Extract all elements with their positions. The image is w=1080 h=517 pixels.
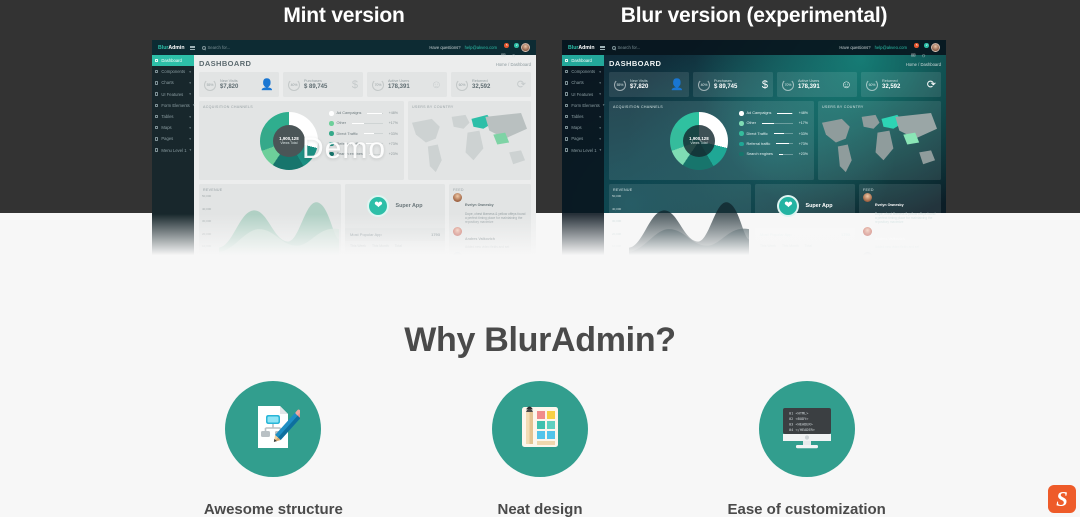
sidebar-item-label: Form Elements <box>161 103 189 108</box>
stat-card-purchases[interactable]: 40% Purchases $ 89,745 $ <box>693 72 773 97</box>
stat-text: New Visits $7,820 <box>220 79 256 90</box>
sidebar-item-label: Charts <box>161 80 173 85</box>
legend-row: Referral traffic +73% <box>739 142 808 147</box>
footer-item[interactable]: This Month <box>372 244 389 248</box>
sidebar-item-charts[interactable]: Charts ▾ <box>152 77 194 88</box>
legend-bar <box>367 113 382 114</box>
sidebar-item-label: Menu Level 1 <box>571 148 596 153</box>
breadcrumb: Home / Dashboard <box>906 62 941 67</box>
code-line: 04 </HEADER> <box>789 428 816 432</box>
progress-ring: 40% <box>698 79 710 91</box>
breadcrumb-sep: / <box>508 62 509 67</box>
user-icon: 👤 <box>260 78 274 91</box>
legend-percent: +17% <box>799 121 808 125</box>
search-input[interactable]: Search for... <box>208 45 231 50</box>
refresh-icon: ⟳ <box>927 78 936 91</box>
hamburger-icon[interactable] <box>190 45 195 50</box>
mail-badge: 5 <box>914 43 919 48</box>
legend-dot <box>739 152 744 157</box>
help-email-link[interactable]: help@akveo.com <box>465 45 497 50</box>
sidebar-item-label: Maps <box>161 125 171 130</box>
search-box[interactable]: Search for... <box>202 45 231 50</box>
chevron-down-icon: ▾ <box>599 81 601 85</box>
topbar-right: Have questions? help@akveo.com ✉5 ☼2 <box>429 43 536 52</box>
legend-label: Ad Campaigns <box>747 111 772 115</box>
avatar <box>453 227 462 236</box>
demo-watermark: Demo <box>152 132 536 166</box>
donut-total-label: Views Total <box>690 141 707 145</box>
logo-admin: Admin <box>168 45 184 51</box>
document-sitemap-pencil-icon <box>246 400 300 459</box>
axis-tick: 50,000 <box>202 194 211 198</box>
axis-tick: 30,000 <box>612 219 621 223</box>
sidebar-item-tables[interactable]: Tables ▾ <box>152 111 194 122</box>
sidebar-item-label: Tables <box>161 114 173 119</box>
axis-tick: 40,000 <box>202 207 211 211</box>
bell-icon[interactable]: ☼2 <box>921 44 927 51</box>
feature-label: Awesome structure <box>140 501 407 517</box>
legend-percent: +73% <box>799 142 808 146</box>
charts-icon <box>155 81 158 84</box>
avatar[interactable] <box>521 43 530 52</box>
hero-titles: Mint version Blur version (experimental) <box>0 0 1080 40</box>
feed-text: Andres Valkovich Added new video fields … <box>875 227 938 250</box>
feature-icon-circle: 01 <HTML> 02 <BODY> 03 <HEADER> 04 </HEA… <box>759 381 855 477</box>
feature-label: Ease of customization <box>673 501 940 517</box>
stat-value: 178,391 <box>388 84 427 90</box>
panel-super-app: ❤ Super App Most Popular App 1793 This W… <box>755 184 855 256</box>
avatar <box>453 193 462 202</box>
feature-neat-design[interactable]: Neat design <box>407 381 674 517</box>
legend-bar <box>762 123 793 124</box>
chevron-down-icon: ▾ <box>189 126 191 130</box>
stat-label: Most Popular App <box>350 232 382 237</box>
sidebar-item-label: Dashboard <box>571 58 592 63</box>
panel-revenue: REVENUE 50,000 40,000 30,000 20,000 10,0… <box>609 184 751 256</box>
legend-percent: +33% <box>799 132 808 136</box>
stat-card-active-users[interactable]: 70% Active Users 178,391 ☺ <box>367 72 447 97</box>
chevron-down-icon: ▾ <box>189 70 191 74</box>
search-icon <box>612 46 616 50</box>
page-header: DASHBOARD Home / Dashboard <box>199 59 531 68</box>
legend-dot <box>739 111 744 116</box>
bell-icon[interactable]: ☼2 <box>511 44 517 51</box>
screenshot-mint-version[interactable]: BlurAdmin Search for... Have questions? … <box>152 40 536 262</box>
panel-feed: FEED Evelyn Ownesby Dope, chest likeness… <box>449 184 531 256</box>
dollar-icon: $ <box>762 79 768 91</box>
hamburger-icon[interactable] <box>600 45 605 50</box>
sidebar-item-label: Dashboard <box>161 58 182 63</box>
sidebar-item-label: Tables <box>571 114 583 119</box>
chevron-down-icon: ▾ <box>599 92 601 96</box>
stat-card-returned[interactable]: 60% Returned 32,592 ⟳ <box>451 72 531 97</box>
sidebar-item-ui-features[interactable]: UI Features ▾ <box>152 89 194 100</box>
stat-value: $7,820 <box>220 84 256 90</box>
sidebar-item-label: Components <box>571 69 595 74</box>
super-app-name: Super App <box>805 203 832 209</box>
sidebar-item-label: Pages <box>571 136 583 141</box>
bottom-row: REVENUE 50,000 40,000 30,000 20,000 10,0… <box>609 184 941 256</box>
stat-card-returned[interactable]: 60% Returned 32,592 ⟳ <box>861 72 941 97</box>
stat-cards: 55% New Visits $7,820 👤 40% Purchases $ … <box>609 72 941 97</box>
sidebar-item-pages[interactable]: Pages ▾ <box>562 133 604 144</box>
legend-label: Ad Campaigns <box>337 111 362 115</box>
super-app-header: ❤ Super App <box>755 184 855 228</box>
sidebar-item-ui-features[interactable]: UI Features ▾ <box>562 89 604 100</box>
legend-row: Direct Traffic +33% <box>739 131 808 136</box>
app-topbar: BlurAdmin Search for... Have questions? … <box>152 40 536 55</box>
revenue-y-axis: 50,000 40,000 30,000 20,000 10,000 <box>612 194 621 248</box>
feed-list: Evelyn Ownesby Dope, chest likeness & ye… <box>453 193 528 256</box>
legend-label: Referral traffic <box>747 142 771 146</box>
footer-item[interactable]: This Month <box>782 244 799 248</box>
progress-ring: 70% <box>782 79 794 91</box>
sidebar-item-form-elements[interactable]: Form Elements ▾ <box>152 100 194 111</box>
table-icon <box>155 115 158 118</box>
list-item[interactable]: Matt Legensky Added two snaps for this t… <box>863 252 938 256</box>
revenue-y-axis: 50,000 40,000 30,000 20,000 10,000 <box>202 194 211 248</box>
bottom-row: REVENUE 50,000 40,000 30,000 20,000 10,0… <box>199 184 531 256</box>
footer-item[interactable]: This Week <box>760 244 776 248</box>
legend-dot <box>739 142 744 147</box>
axis-tick: 10,000 <box>202 244 211 248</box>
chevron-down-icon: ▾ <box>599 115 601 119</box>
heart-badge-icon: ❤ <box>367 195 389 217</box>
stat-value: 178,391 <box>798 84 837 90</box>
stat-text: New Visits $7,820 <box>630 79 666 90</box>
sidebar-item-menu-level-1[interactable]: Menu Level 1 ▾ <box>562 145 604 156</box>
sidebar-item-dashboard[interactable]: Dashboard <box>562 55 604 66</box>
paintbrush-palette-icon <box>513 400 567 459</box>
search-icon <box>202 46 206 50</box>
search-input[interactable]: Search for... <box>618 45 641 50</box>
list-item[interactable]: Evelyn Ownesby Dope, chest likeness & ye… <box>863 193 938 224</box>
corner-badge[interactable]: S <box>1048 485 1076 513</box>
stat-card-new-visits[interactable]: 55% New Visits $7,820 👤 <box>609 72 689 97</box>
middle-row: ACQUISITION CHANNELS 1,900,128 Views Tot… <box>609 101 941 180</box>
legend-bar <box>779 154 793 155</box>
feature-awesome-structure[interactable]: Awesome structure <box>140 381 407 517</box>
stat-text: Returned 32,592 <box>472 79 513 90</box>
smiley-icon: ☺ <box>841 79 852 91</box>
app-topbar: BlurAdmin Search for... Have questions? … <box>562 40 946 55</box>
code-line: 01 <HTML> <box>789 411 809 415</box>
dollar-icon: $ <box>352 79 358 91</box>
badge-letter: S <box>1056 489 1068 510</box>
legend-row: Search engines +23% <box>739 152 808 157</box>
breadcrumb-sep: / <box>918 62 919 67</box>
grid-icon <box>565 59 568 62</box>
stat-label: Most Popular App <box>760 232 792 237</box>
feed-message: Added new video fields and set <box>875 245 938 249</box>
menu-icon <box>565 148 568 151</box>
breadcrumb-current: Dashboard <box>511 62 532 67</box>
stat-label: Returned <box>472 79 513 83</box>
panel-title: FEED <box>863 188 937 192</box>
panel-users-by-country: USERS BY COUNTRY <box>818 101 941 180</box>
legend-dot <box>739 121 744 126</box>
app-logo[interactable]: BlurAdmin <box>158 45 185 51</box>
legend-label: Direct Traffic <box>747 132 768 136</box>
legend-row: Other +17% <box>739 121 808 126</box>
list-item[interactable]: Andres Valkovich Added new video fields … <box>453 227 528 250</box>
footer-item[interactable]: This Week <box>350 244 366 248</box>
stat-card-new-visits[interactable]: 55% New Visits $7,820 👤 <box>199 72 279 97</box>
breadcrumb-current: Dashboard <box>921 62 942 67</box>
table-icon <box>565 115 568 118</box>
chevron-down-icon: ▾ <box>193 103 195 107</box>
revenue-area-chart <box>629 194 749 256</box>
stat-value: 1793 <box>841 232 850 237</box>
legend-label: Search engines <box>747 152 773 156</box>
breadcrumb-home[interactable]: Home <box>496 62 507 67</box>
breadcrumb: Home / Dashboard <box>496 62 531 67</box>
chevron-down-icon: ▾ <box>603 103 605 107</box>
progress-ring: 40% <box>288 79 300 91</box>
feed-text: Evelyn Ownesby Dope, chest likeness & ye… <box>465 193 528 224</box>
stat-label: Active Users <box>798 79 837 83</box>
donut-total-value: 1,900,128 <box>689 136 709 141</box>
sidebar-item-form-elements[interactable]: Form Elements ▾ <box>562 100 604 111</box>
super-app-footer: This Week This Month Total <box>345 241 445 248</box>
hero-title-blur: Blur version (experimental) <box>562 4 946 28</box>
bell-badge: 2 <box>924 43 929 48</box>
panel-title: REVENUE <box>203 188 337 192</box>
legend-dot <box>329 111 334 116</box>
components-icon <box>565 70 568 73</box>
sidebar-item-maps[interactable]: Maps ▾ <box>562 122 604 133</box>
page-header: DASHBOARD Home / Dashboard <box>609 59 941 68</box>
sidebar-item-label: Form Elements <box>571 103 599 108</box>
chevron-down-icon: ▾ <box>600 148 602 152</box>
sidebar: Dashboard Components ▾ Charts ▾ UI Featu… <box>562 55 604 262</box>
logo-blur: Blur <box>568 45 578 51</box>
axis-tick: 20,000 <box>612 232 621 236</box>
page-title: Why BlurAdmin? <box>0 321 1080 360</box>
stat-text: Purchases $ 89,745 <box>304 79 348 90</box>
avatar[interactable] <box>931 43 940 52</box>
revenue-area-chart <box>219 194 339 256</box>
feed-message: Dope, chest likeness & yellow offeys fou… <box>465 212 528 224</box>
map-icon <box>155 126 158 129</box>
footer-item[interactable]: Total <box>805 244 812 248</box>
legend-percent: +48% <box>389 111 398 115</box>
page-title: DASHBOARD <box>609 59 661 68</box>
stat-text: Purchases $ 89,745 <box>714 79 758 90</box>
stat-value: 1793 <box>431 232 440 237</box>
progress-ring: 70% <box>372 79 384 91</box>
sidebar-item-components[interactable]: Components ▾ <box>562 66 604 77</box>
feature-label: Neat design <box>407 501 674 517</box>
page-root: Mint version Blur version (experimental)… <box>0 0 1080 517</box>
legend-row: Ad Campaigns +48% <box>329 111 398 116</box>
panel-revenue: REVENUE 50,000 40,000 30,000 20,000 10,0… <box>199 184 341 256</box>
avatar <box>863 193 872 202</box>
feed-message: Added new video fields and set <box>465 245 528 249</box>
legend-percent: +48% <box>799 111 808 115</box>
world-map[interactable] <box>820 109 939 178</box>
heart-badge-icon: ❤ <box>777 195 799 217</box>
sidebar-item-tables[interactable]: Tables ▾ <box>562 111 604 122</box>
legend-bar <box>776 143 792 144</box>
logo-blur: Blur <box>158 45 168 51</box>
super-app-header: ❤ Super App <box>345 184 445 228</box>
chevron-down-icon: ▾ <box>599 137 601 141</box>
mail-icon[interactable]: ✉5 <box>911 44 917 51</box>
progress-ring: 60% <box>866 79 878 91</box>
super-app-stat-row: Most Popular App 1793 <box>345 228 445 241</box>
legend-row: Ad Campaigns +48% <box>739 111 808 116</box>
stat-label: New Visits <box>220 79 256 83</box>
legend-label: Other <box>337 121 347 125</box>
refresh-icon: ⟳ <box>517 78 526 91</box>
stat-value: 32,592 <box>882 84 923 90</box>
legend-bar <box>774 133 793 134</box>
screenshot-blur-version[interactable]: BlurAdmin Search for... Have questions? … <box>562 40 946 262</box>
feed-text: Matt Legensky Added two snaps for this t… <box>875 252 938 256</box>
charts-icon <box>565 81 568 84</box>
page-title: DASHBOARD <box>199 59 251 68</box>
sidebar-item-label: UI Features <box>571 92 593 97</box>
axis-tick: 40,000 <box>612 207 621 211</box>
super-app-footer: This Week This Month Total <box>755 241 855 248</box>
map-icon <box>565 126 568 129</box>
avatar <box>863 227 872 236</box>
stat-label: Purchases <box>714 79 758 83</box>
stat-label: Returned <box>882 79 923 83</box>
super-app-stat-row: Most Popular App 1793 <box>755 228 855 241</box>
list-item[interactable]: Andres Valkovich Added new video fields … <box>863 227 938 250</box>
progress-ring: 55% <box>614 79 626 91</box>
legend-dot <box>739 131 744 136</box>
feed-author: Evelyn Ownesby <box>465 203 494 207</box>
stat-value: $7,820 <box>630 84 666 90</box>
chevron-down-icon: ▾ <box>599 70 601 74</box>
app-content: DASHBOARD Home / Dashboard 55% New Visit… <box>604 55 946 262</box>
feed-author: Evelyn Ownesby <box>875 203 904 207</box>
sidebar-item-charts[interactable]: Charts ▾ <box>562 77 604 88</box>
sidebar-item-dashboard[interactable]: Dashboard <box>152 55 194 66</box>
feed-author: Andres Valkovich <box>465 237 495 241</box>
search-box[interactable]: Search for... <box>612 45 641 50</box>
legend-percent: +17% <box>389 121 398 125</box>
list-item[interactable]: Matt Legensky Added two snaps for this t… <box>453 252 528 256</box>
stat-label: New Visits <box>630 79 666 83</box>
axis-tick: 20,000 <box>202 232 211 236</box>
feed-list: Evelyn Ownesby Dope, chest likeness & ye… <box>863 193 938 256</box>
feed-message: Dope, chest likeness & yellow offeys fou… <box>875 212 938 224</box>
panel-super-app: ❤ Super App Most Popular App 1793 This W… <box>345 184 445 256</box>
code-line: 03 <HEADER> <box>789 422 814 426</box>
logo-admin: Admin <box>578 45 594 51</box>
legend-label: Other <box>747 121 757 125</box>
smiley-icon: ☺ <box>431 79 442 91</box>
hero-title-mint: Mint version <box>152 4 536 28</box>
bell-badge: 2 <box>514 43 519 48</box>
axis-tick: 50,000 <box>612 194 621 198</box>
ui-features-icon <box>565 92 568 95</box>
panel-feed: FEED Evelyn Ownesby Dope, chest likeness… <box>859 184 941 256</box>
legend-percent: +23% <box>799 152 808 156</box>
mail-icon[interactable]: ✉5 <box>501 44 507 51</box>
legend-bar <box>352 123 383 124</box>
stat-text: Active Users 178,391 <box>798 79 837 90</box>
sidebar-item-components[interactable]: Components ▾ <box>152 66 194 77</box>
feed-text: Evelyn Ownesby Dope, chest likeness & ye… <box>875 193 938 224</box>
panel-title: ACQUISITION CHANNELS <box>613 105 663 176</box>
super-app-name: Super App <box>395 203 422 209</box>
mail-badge: 5 <box>504 43 509 48</box>
sidebar-item-label: Charts <box>571 80 583 85</box>
form-icon <box>565 104 568 107</box>
avatar <box>863 252 872 256</box>
panel-title: REVENUE <box>613 188 747 192</box>
components-icon <box>155 70 158 73</box>
sidebar-item-label: UI Features <box>161 92 183 97</box>
feed-text: Andres Valkovich Added new video fields … <box>465 227 528 250</box>
grid-icon <box>155 59 158 62</box>
feature-ease-of-customization[interactable]: 01 <HTML> 02 <BODY> 03 <HEADER> 04 </HEA… <box>673 381 940 517</box>
progress-ring: 60% <box>456 79 468 91</box>
sidebar-item-label: Components <box>161 69 185 74</box>
stat-card-purchases[interactable]: 40% Purchases $ 89,745 $ <box>283 72 363 97</box>
form-icon <box>155 104 158 107</box>
sidebar-item-label: Maps <box>571 125 581 130</box>
questions-label: Have questions? <box>429 45 460 50</box>
help-email-link[interactable]: help@akveo.com <box>875 45 907 50</box>
donut-chart: 1,900,128 Views Total <box>663 105 735 176</box>
chevron-down-icon: ▾ <box>599 126 601 130</box>
feed-text: Matt Legensky Added two snaps for this t… <box>465 252 528 256</box>
user-icon: 👤 <box>670 78 684 91</box>
feature-icon-circle <box>225 381 321 477</box>
stat-cards: 55% New Visits $7,820 👤 40% Purchases $ … <box>199 72 531 97</box>
monitor-code-icon: 01 <HTML> 02 <BODY> 03 <HEADER> 04 </HEA… <box>778 400 836 459</box>
app-logo[interactable]: BlurAdmin <box>568 45 595 51</box>
feature-icon-circle <box>492 381 588 477</box>
pages-icon <box>565 137 568 140</box>
list-item[interactable]: Evelyn Ownesby Dope, chest likeness & ye… <box>453 193 528 224</box>
stat-value: 32,592 <box>472 84 513 90</box>
stat-value: $ 89,745 <box>714 84 758 90</box>
chevron-down-icon: ▾ <box>189 115 191 119</box>
topbar-right: Have questions? help@akveo.com ✉5 ☼2 <box>839 43 946 52</box>
footer-item[interactable]: Total <box>395 244 402 248</box>
stat-card-active-users[interactable]: 70% Active Users 178,391 ☺ <box>777 72 857 97</box>
stat-value: $ 89,745 <box>304 84 348 90</box>
stat-label: Active Users <box>388 79 427 83</box>
donut-center: 1,900,128 Views Total <box>683 125 715 157</box>
chevron-down-icon: ▾ <box>189 92 191 96</box>
breadcrumb-home[interactable]: Home <box>906 62 917 67</box>
stat-label: Purchases <box>304 79 348 83</box>
stat-text: Returned 32,592 <box>882 79 923 90</box>
chevron-down-icon: ▾ <box>189 81 191 85</box>
avatar <box>453 252 462 256</box>
feed-author: Andres Valkovich <box>875 237 905 241</box>
panel-acquisition-channels: ACQUISITION CHANNELS 1,900,128 Views Tot… <box>609 101 814 180</box>
donut-legend: Ad Campaigns +48% Other +17% <box>735 105 810 176</box>
feature-list: Awesome structure <box>140 381 940 517</box>
progress-ring: 55% <box>204 79 216 91</box>
axis-tick: 10,000 <box>612 244 621 248</box>
legend-bar <box>777 113 792 114</box>
legend-row: Other +17% <box>329 121 398 126</box>
code-line: 02 <BODY> <box>789 417 809 421</box>
questions-label: Have questions? <box>839 45 870 50</box>
legend-dot <box>329 121 334 126</box>
admin-app-blur: BlurAdmin Search for... Have questions? … <box>562 40 946 262</box>
